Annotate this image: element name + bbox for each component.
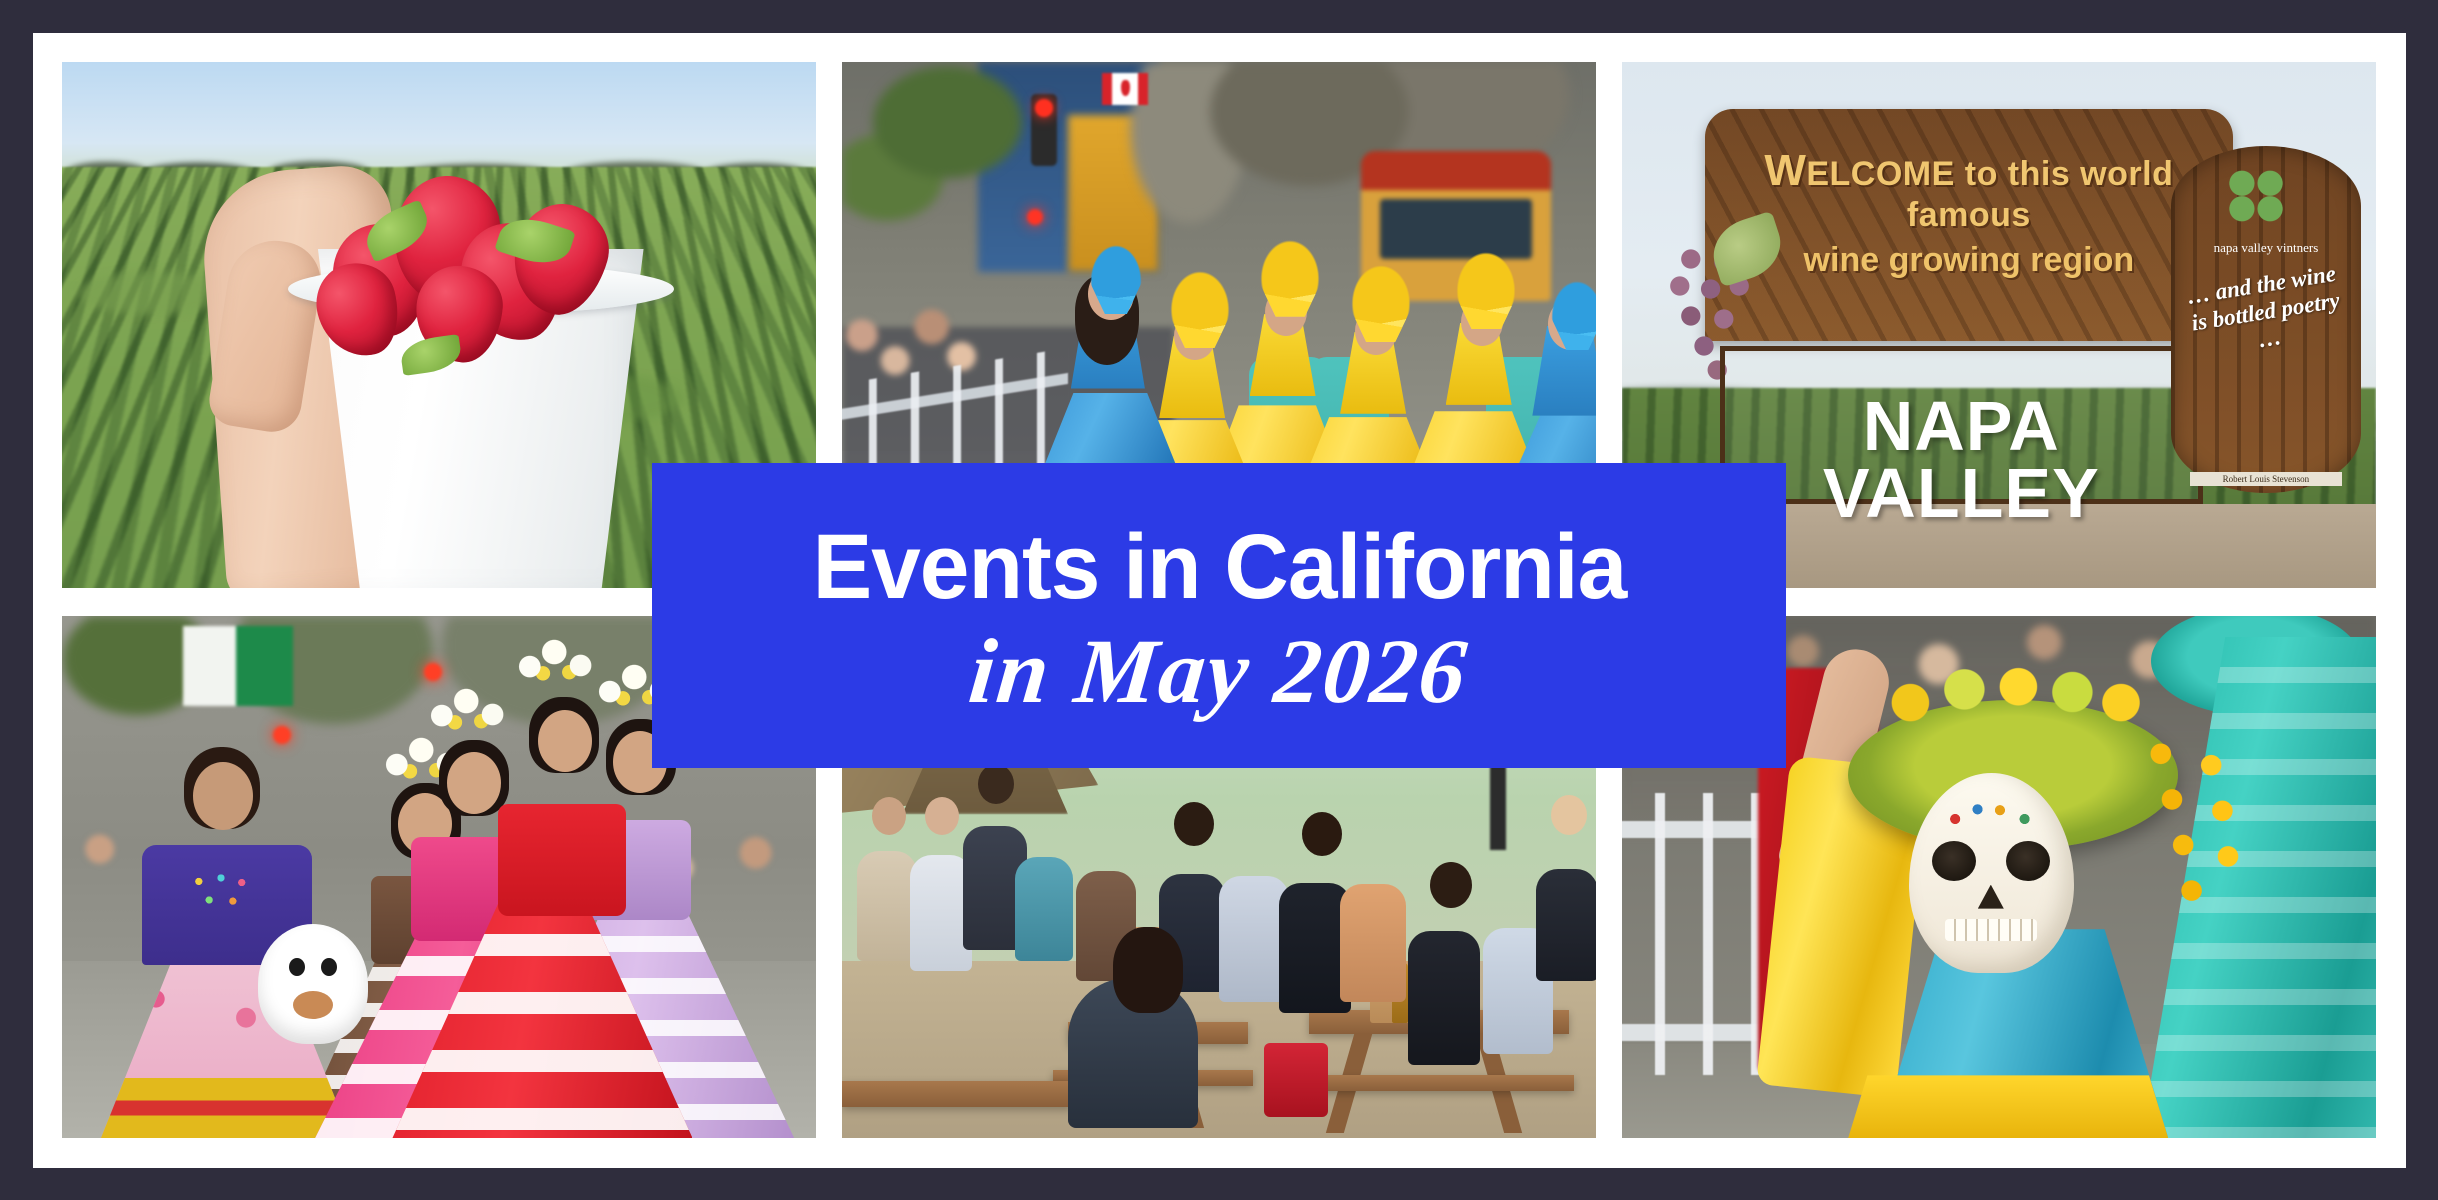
head (978, 764, 1014, 804)
cow-mask-prop-icon (258, 924, 368, 1044)
red-tote-bag (1264, 1043, 1328, 1117)
welcome-sign-board: WELCOME to this world famous wine growin… (1705, 109, 2233, 340)
skull-nose (1978, 885, 2004, 909)
dancer-red (454, 710, 674, 1138)
festival-guest (1536, 869, 1596, 981)
traffic-signal-icon (273, 726, 291, 744)
napa-valley-name: NAPA VALLEY (1720, 393, 2203, 526)
street-sign (183, 626, 293, 706)
poetry-quote: … and the wine is bottled poetry … (2177, 259, 2355, 366)
festival-guest (1340, 884, 1406, 1002)
embroidery-detail (184, 864, 258, 922)
flower-headpiece-icon (511, 633, 605, 689)
traffic-signal-icon (1031, 94, 1057, 166)
head (538, 710, 592, 772)
skull-teeth (1945, 919, 2037, 941)
title-banner: Events in California in May 2026 (652, 463, 1786, 768)
picnic-bench (1294, 1075, 1574, 1091)
bodice (498, 804, 626, 916)
welcome-cap: W (1764, 146, 1806, 195)
vintners-logo-icon (2224, 167, 2288, 225)
page-subtitle: in May 2026 (965, 625, 1472, 717)
festival-guest (857, 851, 917, 961)
traffic-signal-icon (1027, 209, 1043, 225)
skull-eye-socket (2006, 841, 2050, 881)
welcome-line-2: wine growing region (1705, 241, 2233, 280)
skull-eye-socket (1932, 841, 1976, 881)
head (925, 797, 959, 835)
sombrero-ruffle-trim (1878, 663, 2148, 729)
welcome-rest: ELCOME (1806, 155, 1954, 193)
page-title: Events in California (812, 521, 1626, 613)
canada-flag-icon (1102, 73, 1148, 105)
head (1302, 812, 1342, 856)
head (1551, 795, 1587, 835)
skull-floral-decoration (1935, 797, 2047, 841)
quote-credit: Robert Louis Stevenson (2190, 472, 2342, 486)
yellow-curls (2130, 731, 2270, 921)
poster-canvas: WELCOME to this world famous wine growin… (0, 0, 2438, 1200)
hair (1113, 927, 1183, 1013)
festival-guest (1015, 857, 1073, 961)
wine-barrel-sign: napa valley vintners … and the wine is b… (2171, 146, 2361, 493)
festival-guest (1408, 931, 1480, 1065)
traffic-signal-icon (424, 663, 442, 681)
head (1174, 802, 1214, 846)
head (193, 762, 253, 830)
yellow-hem-ruffle (1848, 1075, 2168, 1138)
vintners-label: napa valley vintners (2171, 240, 2361, 256)
welcome-line-1: WELCOME to this world famous (1705, 146, 2233, 235)
picnic-table (842, 1081, 1072, 1107)
